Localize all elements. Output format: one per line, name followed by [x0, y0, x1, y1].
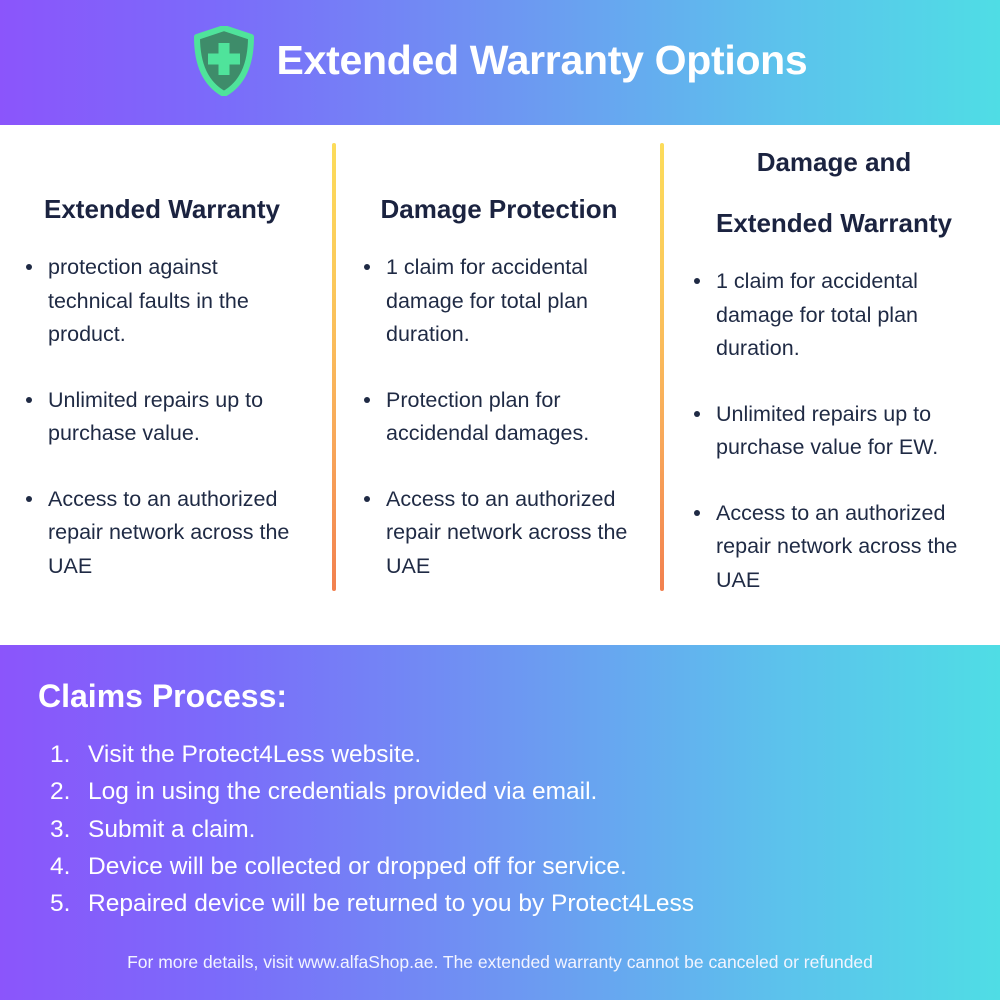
column-divider-1 — [332, 143, 336, 591]
list-item: Submit a claim. — [50, 811, 970, 848]
plan-feature-list-2: 1 claim for accidental damage for total … — [360, 251, 638, 583]
plan-title-line: Damage and — [690, 147, 978, 178]
list-item: Visit the Protect4Less website. — [50, 736, 970, 773]
plan-title-line: Extended Warranty — [22, 194, 302, 225]
plan-column-extended-warranty: Extended Warranty protection against tec… — [0, 147, 332, 645]
list-item: Access to an authorized repair network a… — [690, 497, 978, 598]
claims-process-steps: Visit the Protect4Less website. Log in u… — [50, 736, 970, 922]
plans-comparison: Extended Warranty protection against tec… — [0, 125, 1000, 645]
plan-feature-list-3: 1 claim for accidental damage for total … — [690, 265, 978, 597]
warranty-options-poster: Extended Warranty Options Extended Warra… — [0, 0, 1000, 1000]
page-title: Extended Warranty Options — [277, 40, 808, 81]
list-item: Unlimited repairs up to purchase value. — [22, 384, 302, 451]
plan-title-damage-and-extended-warranty: Damage and Extended Warranty — [690, 147, 978, 239]
shield-plus-icon — [193, 26, 255, 96]
header-banner: Extended Warranty Options — [0, 0, 1000, 125]
list-item: Repaired device will be returned to you … — [50, 885, 970, 922]
plan-title-damage-protection: Damage Protection — [360, 147, 638, 225]
plan-title-extended-warranty: Extended Warranty — [22, 147, 302, 225]
column-divider-2 — [660, 143, 664, 591]
list-item: Log in using the credentials provided vi… — [50, 773, 970, 810]
footer-fineprint: For more details, visit www.alfaShop.ae.… — [0, 951, 1000, 974]
plan-column-damage-and-extended-warranty: Damage and Extended Warranty 1 claim for… — [660, 147, 1000, 645]
list-item: Access to an authorized repair network a… — [22, 483, 302, 584]
list-item: Device will be collected or dropped off … — [50, 848, 970, 885]
claims-process-section: Claims Process: Visit the Protect4Less w… — [0, 645, 1000, 1000]
list-item: Access to an authorized repair network a… — [360, 483, 638, 584]
list-item: 1 claim for accidental damage for total … — [360, 251, 638, 352]
plan-title-line: Extended Warranty — [690, 208, 978, 239]
list-item: Protection plan for accidendal damages. — [360, 384, 638, 451]
plan-title-line: Damage Protection — [360, 194, 638, 225]
plan-column-damage-protection: Damage Protection 1 claim for accidental… — [332, 147, 660, 645]
plan-feature-list-1: protection against technical faults in t… — [22, 251, 302, 583]
list-item: Unlimited repairs up to purchase value f… — [690, 398, 978, 465]
list-item: 1 claim for accidental damage for total … — [690, 265, 978, 366]
list-item: protection against technical faults in t… — [22, 251, 302, 352]
claims-process-title: Claims Process: — [38, 679, 970, 714]
